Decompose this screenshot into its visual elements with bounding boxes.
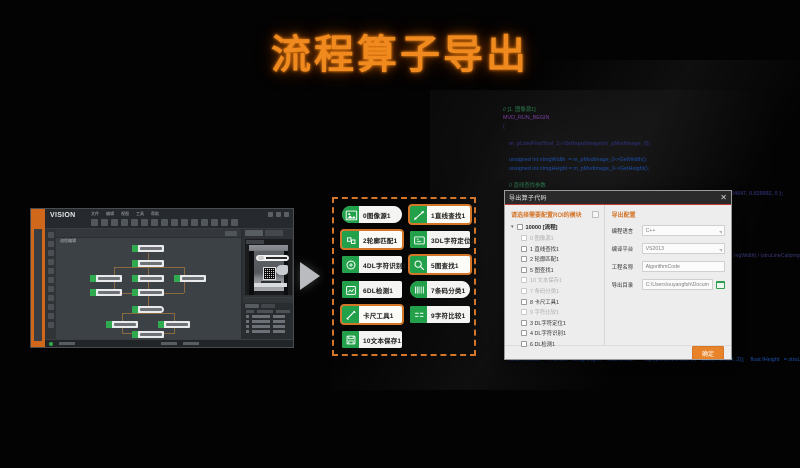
- image-panel-tabs[interactable]: [243, 229, 294, 238]
- flow-node[interactable]: [90, 289, 122, 296]
- module-select-header: 请选择需要配置ROI的模块: [511, 210, 599, 219]
- code-line: // [1. 图像源1]: [503, 106, 800, 114]
- module-item[interactable]: 10文本保存1: [342, 331, 402, 348]
- photo-banner-text: [266, 257, 287, 259]
- tree-item-label: 4 DL字符识别1: [530, 329, 566, 337]
- toolbar-icon[interactable]: [171, 219, 178, 226]
- tree-item-label: 7 条码分类1: [530, 287, 559, 295]
- checkbox[interactable]: [521, 288, 527, 294]
- node-status-icon: [106, 321, 112, 328]
- node-status-icon: [132, 275, 138, 282]
- node-label: [140, 247, 162, 250]
- status-text: [59, 342, 75, 345]
- toolbar-icon[interactable]: [201, 219, 208, 226]
- node-status-icon: [132, 289, 138, 296]
- module-item-label: 0图像源1: [359, 210, 395, 220]
- status-text: [183, 342, 199, 345]
- flow-canvas-header: 流程编辑: [56, 229, 241, 238]
- module-item[interactable]: 3DL字符定位1: [410, 231, 470, 248]
- checkbox[interactable]: [517, 224, 523, 230]
- tool-icon[interactable]: [48, 286, 54, 292]
- dialog-titlebar: 导出算子代码 ✕: [505, 191, 731, 205]
- preview-photo: [249, 245, 288, 291]
- column-header: [276, 310, 290, 313]
- status-text: [161, 342, 177, 345]
- config-field: 工程名称AlgorithmCode: [612, 261, 725, 272]
- flow-node[interactable]: [132, 275, 164, 282]
- code-line: [503, 148, 800, 156]
- tool-icon[interactable]: [48, 241, 54, 247]
- code-line: mgWidth) / (struLineCalip: [734, 253, 793, 259]
- char-compare-icon: [410, 306, 427, 323]
- checkbox[interactable]: [521, 341, 527, 347]
- toolbar-icon[interactable]: [191, 219, 198, 226]
- node-label: [166, 323, 188, 326]
- tree-item-label: 3 DL字符定位1: [530, 319, 566, 327]
- flow-node[interactable]: [132, 306, 164, 313]
- module-select-panel: 请选择需要配置ROI的模块 ▾ 10000 [流程] 0 图像源11 直线查找1…: [505, 205, 605, 345]
- code-overflow-right: mgWidth) / (struLineCalipmgHeight) / (st…: [734, 252, 800, 260]
- config-field-list: 编程语言C++编译平台VS2013工程名称AlgorithmCode导出目录C:…: [612, 225, 725, 290]
- node-status-icon: [90, 289, 96, 296]
- column-header: [246, 310, 254, 313]
- flow-node[interactable]: [132, 260, 164, 267]
- node-label: [114, 323, 136, 326]
- tree-item[interactable]: 3 DL字符定位1: [521, 319, 599, 327]
- toolbar-icon[interactable]: [181, 219, 188, 226]
- node-status-icon: [132, 306, 138, 313]
- tree-item[interactable]: 8 卡尺工具1: [521, 298, 599, 306]
- node-status-icon: [158, 321, 164, 328]
- config-field-label: 工程名称: [612, 263, 642, 271]
- code-line: unsigned int nImgHeight = m_pMvdImage_0-…: [503, 165, 800, 173]
- flow-node[interactable]: [174, 275, 206, 282]
- module-item[interactable]: 5图查找1: [410, 256, 470, 273]
- menu-item[interactable]: 视图: [121, 211, 129, 217]
- close-icon[interactable]: ✕: [720, 194, 727, 202]
- app-toolbar[interactable]: [91, 219, 238, 226]
- module-item[interactable]: 0图像源1: [342, 206, 402, 223]
- toolbar-icon[interactable]: [141, 219, 148, 226]
- code-line: // 直线查找参数: [503, 182, 800, 190]
- tool-icon[interactable]: [48, 232, 54, 238]
- page-title: 流程算子导出: [0, 22, 800, 80]
- flow-wire: [122, 313, 174, 314]
- module-item-label: 2轮廓匹配1: [359, 235, 401, 245]
- tab-statistics[interactable]: [261, 304, 275, 308]
- image-preview[interactable]: [245, 239, 292, 295]
- menu-item[interactable]: 帮助: [151, 211, 159, 217]
- tree-item[interactable]: 6 DL检测1: [521, 340, 599, 348]
- config-field-label: 导出目录: [612, 281, 642, 289]
- module-item-label: 7条码分类1: [427, 285, 469, 295]
- module-item-label: 5图查找1: [427, 260, 463, 270]
- dl-char-recognize-icon: [342, 256, 359, 273]
- tree-root-label: 10000 [流程]: [526, 223, 558, 231]
- code-line: float fHeight = struLineCaliper.fHeight …: [745, 357, 800, 363]
- exported-module-list: 0图像源11直线查找12轮廓匹配13DL字符定位14DL字符识别15图查找16D…: [332, 197, 476, 356]
- node-status-icon: [132, 245, 138, 252]
- config-field: 编译平台VS2013: [612, 243, 725, 254]
- checkbox[interactable]: [521, 246, 527, 252]
- flow-canvas[interactable]: 流程编辑: [56, 229, 242, 341]
- tool-icon[interactable]: [48, 313, 54, 319]
- text-save-icon: [342, 331, 359, 348]
- qr-code: [263, 267, 276, 280]
- tree-item[interactable]: 0 图像源1: [521, 234, 599, 242]
- tree-item-label: 2 轮廓匹配1: [530, 255, 559, 263]
- tool-icon[interactable]: [48, 268, 54, 274]
- close-icon[interactable]: [284, 212, 289, 217]
- image-preview-label: [246, 240, 264, 244]
- contour-match-icon: [342, 231, 359, 248]
- config-field-label: 编译平台: [612, 245, 642, 253]
- module-item-label: 4DL字符识别1: [359, 260, 411, 270]
- config-field-input[interactable]: AlgorithmCode: [642, 261, 725, 272]
- app-right-panel: [243, 229, 294, 341]
- confirm-button[interactable]: 确定: [692, 346, 724, 361]
- toolbar-icon[interactable]: [211, 219, 218, 226]
- toolbar-icon[interactable]: [121, 219, 128, 226]
- tool-icon[interactable]: [48, 295, 54, 301]
- tree-item-label: 0 图像源1: [530, 234, 554, 242]
- checkbox[interactable]: [521, 235, 527, 241]
- tab-run-log[interactable]: [245, 304, 259, 308]
- checkbox[interactable]: [521, 330, 527, 336]
- app-menubar[interactable]: 文件 编辑 视图 工具 帮助: [91, 211, 159, 217]
- node-label: [140, 277, 162, 280]
- photo-left-mask: [249, 251, 254, 295]
- node-status-icon: [132, 260, 138, 267]
- flow-wire: [122, 313, 123, 321]
- checkbox[interactable]: [521, 309, 527, 315]
- dl-char-locate-icon: [410, 231, 427, 248]
- app-logo: VISION: [50, 212, 76, 219]
- app-accent-bar-inner: [34, 229, 42, 341]
- code-line: {: [503, 123, 800, 131]
- caliper-tool-icon: [342, 306, 359, 323]
- export-config-header: 导出配置: [612, 210, 725, 219]
- dl-detect-icon: [342, 281, 359, 298]
- image-source-icon: [342, 206, 359, 223]
- module-item[interactable]: 7条码分类1: [410, 281, 470, 298]
- log-panel: [243, 297, 294, 341]
- tool-icon[interactable]: [48, 277, 54, 283]
- tree-item-label: 8 卡尺工具1: [530, 298, 559, 306]
- checkbox[interactable]: [521, 267, 527, 273]
- flow-wire: [174, 313, 175, 321]
- tool-icon[interactable]: [48, 304, 54, 310]
- toolbar-icon[interactable]: [151, 219, 158, 226]
- menu-item[interactable]: 工具: [136, 211, 144, 217]
- tree-item-label: 5 图查找1: [530, 266, 554, 274]
- checkbox[interactable]: [521, 320, 527, 326]
- flow-node[interactable]: [132, 331, 164, 338]
- tree-item-list: 0 图像源11 直线查找12 轮廓匹配15 图查找110 文本保存17 条码分类…: [511, 234, 599, 348]
- code-line: m_pLineFindTool_1->SetInputImage(m_pMvdI…: [503, 140, 800, 148]
- node-label: [140, 333, 162, 336]
- menu-item[interactable]: 编辑: [106, 211, 114, 217]
- table-row[interactable]: [243, 329, 294, 334]
- tree-item[interactable]: 7 条码分类1: [521, 287, 599, 295]
- node-status-icon: [90, 275, 96, 282]
- code-line: [503, 131, 800, 139]
- photo-controls: [254, 283, 287, 287]
- app-side-toolbar[interactable]: [45, 229, 56, 341]
- tree-item-label: 10 文本保存1: [530, 276, 562, 284]
- config-field-label: 编程语言: [612, 227, 642, 235]
- module-item[interactable]: 4DL字符识别1: [342, 256, 402, 273]
- tab-result-display[interactable]: [265, 230, 283, 236]
- barcode-classify-icon: [410, 281, 427, 298]
- toolbar-icon[interactable]: [221, 219, 228, 226]
- module-item-label: 3DL字符定位1: [427, 235, 479, 245]
- tab-image-display[interactable]: [245, 230, 263, 236]
- toolbar-icon[interactable]: [111, 219, 118, 226]
- config-field: 导出目录C:\Users\ouyangfsh\Docum: [612, 279, 725, 290]
- dialog-title: 导出算子代码: [509, 193, 547, 202]
- tree-item-label: 6 DL检测1: [530, 340, 555, 348]
- tool-icon[interactable]: [48, 322, 54, 328]
- module-item-label: 卡尺工具1: [359, 310, 398, 320]
- minimize-icon[interactable]: [268, 212, 273, 217]
- toolbar-icon[interactable]: [161, 219, 168, 226]
- tree-item[interactable]: 4 DL字符识别1: [521, 329, 599, 337]
- flow-node[interactable]: [158, 321, 190, 328]
- photo-banner: [256, 255, 289, 261]
- node-label: [182, 277, 204, 280]
- config-field-input[interactable]: C:\Users\ouyangfsh\Docum: [642, 279, 713, 290]
- node-label: [140, 291, 162, 294]
- flow-node[interactable]: [90, 275, 122, 282]
- tree-root-node[interactable]: ▾ 10000 [流程]: [511, 223, 599, 231]
- toolbar-icon[interactable]: [231, 219, 238, 226]
- canvas-badge: [225, 231, 237, 236]
- tree-item-label: 9 字符比较1: [530, 308, 559, 316]
- app-statusbar: [45, 339, 293, 347]
- checkbox[interactable]: [521, 256, 527, 262]
- flow-wire: [114, 267, 184, 268]
- module-item-label: 6DL检测1: [359, 285, 397, 295]
- module-item[interactable]: 6DL检测1: [342, 281, 402, 298]
- hand-shape: [276, 265, 288, 275]
- app-accent-bar: [31, 209, 45, 347]
- chevron-down-icon[interactable]: ▾: [511, 224, 514, 230]
- chevron-down-icon[interactable]: [719, 249, 722, 252]
- slide-root: 流程算子导出 VISION 文件 编辑 视图 工具 帮助: [0, 0, 800, 468]
- dialog-body: 请选择需要配置ROI的模块 ▾ 10000 [流程] 0 图像源11 直线查找1…: [505, 205, 731, 345]
- node-label: [140, 308, 162, 311]
- column-header: [257, 310, 273, 313]
- module-item-label: 10文本保存1: [359, 335, 405, 345]
- maximize-icon[interactable]: [276, 212, 281, 217]
- photo-banner-icon: [258, 256, 264, 260]
- tree-item[interactable]: 9 字符比较1: [521, 308, 599, 316]
- toolbar-icon[interactable]: [131, 219, 138, 226]
- flow-wire: [174, 328, 175, 334]
- export-config-panel: 导出配置 编程语言C++编译平台VS2013工程名称AlgorithmCode导…: [605, 205, 731, 345]
- flow-node[interactable]: [132, 245, 164, 252]
- code-line: unsigned int nImgWidth = m_pMvdImage_0->…: [503, 156, 800, 164]
- tree-item[interactable]: 5 图查找1: [521, 266, 599, 274]
- module-item-label: 9字符比较1: [427, 310, 469, 320]
- vision-software-screenshot: VISION 文件 编辑 视图 工具 帮助: [30, 208, 294, 348]
- tree-item[interactable]: 2 轮廓匹配1: [521, 255, 599, 263]
- toolbar-icon[interactable]: [101, 219, 108, 226]
- code-line: [503, 173, 800, 181]
- tree-item-label: 1 直线查找1: [530, 245, 559, 253]
- module-item[interactable]: 2轮廓匹配1: [342, 231, 402, 248]
- app-window-controls[interactable]: [268, 212, 289, 217]
- code-line: mgHeight) / (struLineCali: [793, 253, 800, 259]
- toolbar-icon[interactable]: [91, 219, 98, 226]
- flow-node[interactable]: [106, 321, 138, 328]
- module-item[interactable]: 1直线查找1: [410, 206, 470, 223]
- checkbox[interactable]: [521, 299, 527, 305]
- refresh-icon[interactable]: [592, 211, 599, 218]
- image-find-icon: [410, 256, 427, 273]
- module-select-title: 请选择需要配置ROI的模块: [511, 210, 582, 219]
- tool-icon[interactable]: [48, 259, 54, 265]
- checkbox[interactable]: [521, 277, 527, 283]
- node-label: [98, 277, 120, 280]
- folder-browse-icon[interactable]: [716, 281, 725, 289]
- config-field-input[interactable]: VS2013: [642, 243, 725, 254]
- node-status-icon: [132, 331, 138, 338]
- node-status-icon: [174, 275, 180, 282]
- module-item[interactable]: 9字符比较1: [410, 306, 470, 323]
- module-item-label: 1直线查找1: [427, 210, 469, 220]
- config-field-input[interactable]: C++: [642, 225, 725, 236]
- arrow-right-icon: [300, 262, 320, 290]
- line-find-icon: [410, 206, 427, 223]
- menu-item[interactable]: 文件: [91, 211, 99, 217]
- tree-item[interactable]: 10 文本保存1: [521, 276, 599, 284]
- module-item[interactable]: 卡尺工具1: [342, 306, 402, 323]
- chevron-down-icon[interactable]: [719, 231, 722, 234]
- export-operator-dialog[interactable]: 导出算子代码 ✕ 请选择需要配置ROI的模块 ▾ 10000 [流程] 0 图像…: [504, 190, 732, 360]
- tool-icon[interactable]: [48, 250, 54, 256]
- flow-node[interactable]: [132, 289, 164, 296]
- status-indicator-icon: [49, 342, 53, 346]
- config-field: 编程语言C++: [612, 225, 725, 236]
- node-label: [140, 262, 162, 265]
- node-label: [98, 291, 120, 294]
- tree-item[interactable]: 1 直线查找1: [521, 245, 599, 253]
- code-line: MVD_RUN_BEGIN: [503, 114, 800, 122]
- flow-canvas-title: 流程编辑: [60, 236, 76, 245]
